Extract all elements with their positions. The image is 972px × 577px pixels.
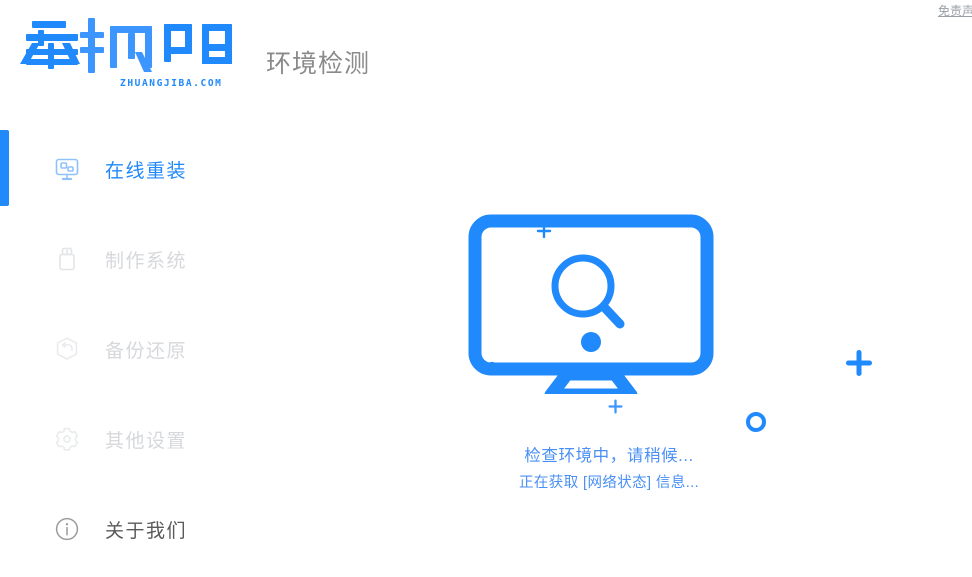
app-header: ZHUANGJIBA.COM 环境检测 免责声明	[0, 0, 972, 118]
sidebar-item-about-us[interactable]: 关于我们	[0, 492, 246, 566]
plus-spark-icon	[608, 399, 623, 414]
sidebar-item-online-reinstall[interactable]: 在线重装	[0, 132, 246, 206]
sidebar-nav: 在线重装 制作系统 备份还原	[0, 118, 246, 577]
ring-spark-icon	[744, 410, 768, 434]
sidebar-item-label: 关于我们	[105, 516, 187, 543]
status-block: 检查环境中，请稍候... 正在获取 [网络状态] 信息...	[246, 444, 972, 495]
app-window: ZHUANGJIBA.COM 环境检测 免责声明 在线重装	[0, 0, 972, 577]
sidebar-item-backup-restore[interactable]: 备份还原	[0, 312, 246, 386]
info-circle-icon	[52, 514, 82, 544]
sidebar-item-make-system[interactable]: 制作系统	[0, 222, 246, 296]
status-secondary-text: 正在获取 [网络状态] 信息...	[246, 472, 972, 495]
page-title: 环境检测	[266, 44, 370, 80]
sidebar-item-other-settings[interactable]: 其他设置	[0, 402, 246, 476]
sidebar-item-label: 制作系统	[105, 246, 187, 273]
zhuangjiba-logo-icon	[18, 16, 244, 78]
sidebar-item-label: 备份还原	[105, 336, 187, 363]
monitor-magnifier-icon	[468, 214, 728, 394]
usb-drive-icon	[52, 244, 82, 274]
cube-restore-icon	[52, 334, 82, 364]
sidebar-item-label: 在线重装	[105, 156, 187, 183]
plus-spark-icon	[846, 350, 872, 376]
disclaimer-link[interactable]: 免责声明	[938, 2, 972, 19]
gear-icon	[52, 424, 82, 454]
brand-domain-text: ZHUANGJIBA.COM	[120, 78, 222, 89]
monitor-reinstall-icon	[52, 154, 82, 184]
brand-logo: ZHUANGJIBA.COM	[18, 16, 244, 94]
sidebar-item-label: 其他设置	[105, 426, 187, 453]
main-content: 检查环境中，请稍候... 正在获取 [网络状态] 信息...	[246, 118, 972, 577]
status-primary-text: 检查环境中，请稍候...	[246, 444, 972, 470]
